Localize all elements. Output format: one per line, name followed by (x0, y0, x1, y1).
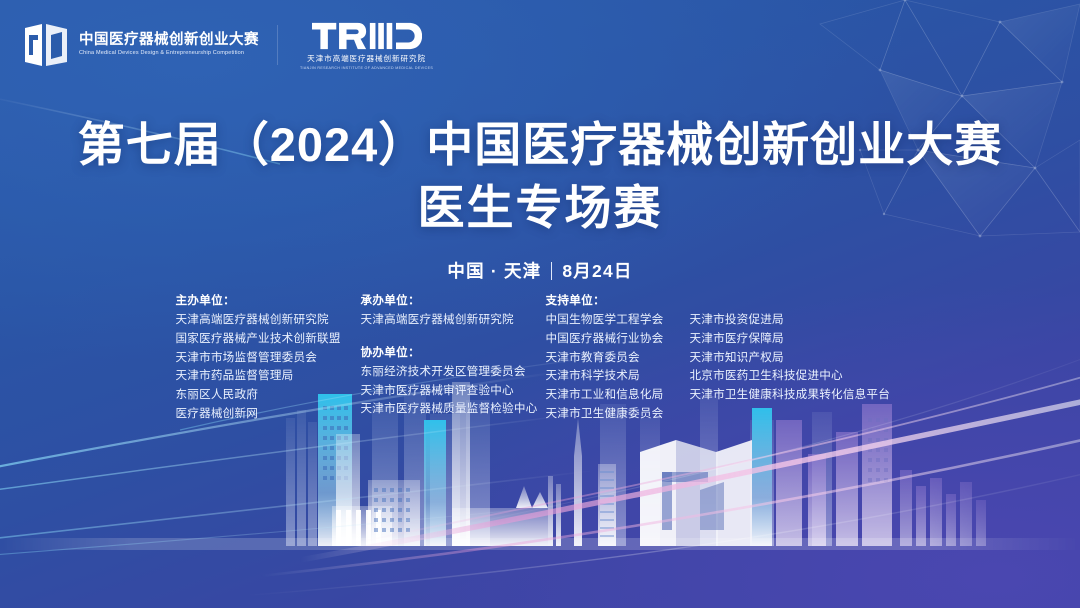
institute-logo-cn: 天津市高端医疗器械创新研究院 (307, 53, 426, 64)
trimd-wordmark-icon (312, 22, 422, 50)
event-location: 中国 · 天津 (447, 258, 541, 283)
list-item: 中国生物医学工程学会 (546, 311, 682, 330)
list-item: 天津市卫生健康科技成果转化信息平台 (690, 386, 905, 405)
column-spacer (361, 330, 546, 344)
supporter-heading: 支持单位： (546, 292, 905, 308)
dateline-separator (551, 262, 552, 280)
list-item: 天津市科学技术局 (546, 367, 682, 386)
competition-logo-cn: 中国医疗器械创新创业大赛 (79, 33, 259, 48)
event-poster: 中国医疗器械创新创业大赛 China Medical Devices Desig… (0, 0, 1080, 608)
list-item: 天津市医疗器械审评查验中心 (361, 382, 546, 401)
header-logos: 中国医疗器械创新创业大赛 China Medical Devices Desig… (22, 22, 433, 70)
list-item: 天津市医疗保障局 (690, 330, 905, 349)
supporter-subcolumn-left: 中国生物医学工程学会 中国医疗器械行业协会 天津市教育委员会 天津市科学技术局 … (546, 311, 682, 424)
coorganizer-heading: 协办单位： (361, 344, 546, 360)
list-item: 天津市卫生健康委员会 (546, 405, 682, 424)
list-item: 天津市工业和信息化局 (546, 386, 682, 405)
list-item: 东丽经济技术开发区管理委员会 (361, 363, 546, 382)
title-line-1: 第七届（2024）中国医疗器械创新创业大赛 (0, 118, 1080, 173)
supporter-column: 支持单位： 中国生物医学工程学会 中国医疗器械行业协会 天津市教育委员会 天津市… (546, 292, 905, 424)
list-item: 国家医疗器械产业技术创新联盟 (176, 330, 361, 349)
list-item: 天津市药品监督管理局 (176, 367, 361, 386)
event-date: 8月24日 (562, 258, 632, 283)
list-item: 天津市医疗器械质量监督检验中心 (361, 400, 546, 419)
institute-logo-en: TIANJIN RESEARCH INSTITUTE OF ADVANCED M… (300, 66, 433, 70)
list-item: 东丽区人民政府 (176, 386, 361, 405)
undertaker-column: 承办单位： 天津高端医疗器械创新研究院 协办单位： 东丽经济技术开发区管理委员会… (361, 292, 546, 419)
competition-logo-en: China Medical Devices Design & Entrepren… (79, 51, 263, 56)
list-item: 天津高端医疗器械创新研究院 (361, 311, 546, 330)
list-item: 中国医疗器械行业协会 (546, 330, 682, 349)
list-item: 天津高端医疗器械创新研究院 (176, 311, 361, 330)
supporter-subcolumn-right: 天津市投资促进局 天津市医疗保障局 天津市知识产权局 北京市医药卫生科技促进中心… (690, 311, 905, 424)
host-heading: 主办单位： (176, 292, 361, 308)
organizer-columns: 主办单位： 天津高端医疗器械创新研究院 国家医疗器械产业技术创新联盟 天津市市场… (0, 292, 1080, 424)
list-item: 北京市医药卫生科技促进中心 (690, 367, 905, 386)
list-item: 医疗器械创新网 (176, 405, 361, 424)
title-line-2: 医生专场赛 (0, 179, 1080, 238)
page-title: 第七届（2024）中国医疗器械创新创业大赛 医生专场赛 (0, 118, 1080, 237)
host-column: 主办单位： 天津高端医疗器械创新研究院 国家医疗器械产业技术创新联盟 天津市市场… (176, 292, 361, 424)
list-item: 天津市市场监督管理委员会 (176, 349, 361, 368)
institute-logo: 天津市高端医疗器械创新研究院 TIANJIN RESEARCH INSTITUT… (300, 22, 433, 70)
competition-logo: 中国医疗器械创新创业大赛 China Medical Devices Desig… (22, 22, 259, 68)
undertaker-heading: 承办单位： (361, 292, 546, 308)
list-item: 天津市投资促进局 (690, 311, 905, 330)
open-door-logo-icon (22, 22, 70, 68)
event-dateline: 中国 · 天津 8月24日 (0, 258, 1080, 283)
logo-divider (277, 25, 278, 65)
list-item: 天津市知识产权局 (690, 349, 905, 368)
list-item: 天津市教育委员会 (546, 349, 682, 368)
